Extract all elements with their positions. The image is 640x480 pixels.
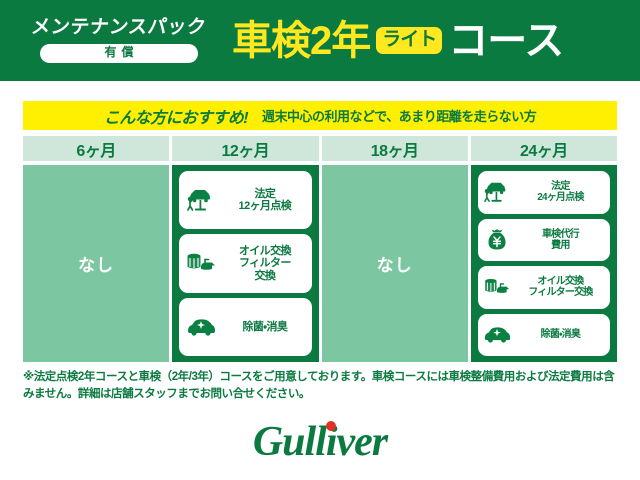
- footnote-text: ※法定点検2年コースと車検（2年/3年）コースをご用意しております。車検コースに…: [23, 369, 621, 402]
- sanitize-car-icon: [482, 325, 512, 344]
- table-column-18months: 18ヶ月 なし: [322, 136, 468, 362]
- light-plan-badge: ライト: [376, 27, 442, 54]
- header-left-group: メンテナンスパック 有償: [0, 18, 232, 62]
- sanitize-car-icon: [183, 317, 219, 337]
- car-on-lift-icon: [183, 187, 219, 213]
- table-column-6months: 6ヶ月 なし: [23, 136, 169, 362]
- service-label: 法定 12ヶ月点検: [222, 188, 307, 213]
- money-bag-icon: [482, 228, 512, 252]
- no-service-label: なし: [377, 251, 413, 276]
- column-body-18months: なし: [322, 165, 468, 362]
- column-body-6months: なし: [23, 165, 169, 362]
- column-header-12months: 12ヶ月: [172, 136, 318, 161]
- column-header-18months: 18ヶ月: [322, 136, 468, 161]
- service-label: 除菌・消臭: [222, 321, 307, 333]
- oil-filter-icon: [482, 275, 512, 299]
- maintenance-pack-title: メンテナンスパック: [30, 18, 208, 39]
- column-body-24months: 法定 24ヶ月点検 車検代行 費用: [471, 165, 617, 362]
- brand-logo: Gulliver: [0, 418, 640, 466]
- column-header-24months: 24ヶ月: [471, 136, 617, 161]
- recommendation-lead: こんな方におすすめ!: [104, 104, 248, 128]
- column-header-6months: 6ヶ月: [23, 136, 169, 161]
- service-card: 除菌・消臭: [478, 314, 610, 357]
- recommendation-description: 週末中心の利用などで、あまり距離を走らない方: [262, 106, 536, 125]
- header-right-group: 車検2年 ライト コース: [232, 21, 640, 61]
- service-card: 車検代行 費用: [478, 219, 610, 262]
- maintenance-schedule-table: 6ヶ月 なし 12ヶ月: [23, 136, 617, 362]
- course-title-suffix: コース: [448, 21, 563, 61]
- table-column-12months: 12ヶ月 法定 12ヶ月点検: [172, 136, 318, 362]
- course-title-highlight: 車検2年: [232, 21, 370, 61]
- header-banner: メンテナンスパック 有償 車検2年 ライト コース: [0, 0, 640, 81]
- service-card: 法定 12ヶ月点検: [179, 171, 311, 229]
- brand-logo-text: Gulliver: [253, 418, 387, 466]
- service-card: 法定 24ヶ月点検: [478, 171, 610, 214]
- service-label: 除菌・消臭: [515, 329, 606, 340]
- service-label: オイル交換 フィルター 交換: [222, 245, 307, 282]
- logo-dot-icon: [326, 421, 336, 431]
- service-label: オイル交換 フィルター交換: [515, 276, 606, 298]
- service-card: 除菌・消臭: [179, 298, 311, 356]
- service-card: オイル交換 フィルター 交換: [179, 234, 311, 292]
- column-body-12months: 法定 12ヶ月点検 オイル交換 フィルター 交換: [172, 165, 318, 362]
- car-on-lift-icon: [482, 180, 512, 204]
- service-label: 車検代行 費用: [515, 229, 606, 251]
- oil-filter-icon: [183, 250, 219, 276]
- paid-badge: 有償: [40, 44, 198, 62]
- no-service-label: なし: [78, 251, 114, 276]
- service-card: オイル交換 フィルター交換: [478, 266, 610, 309]
- service-label: 法定 24ヶ月点検: [515, 181, 606, 203]
- recommendation-banner: こんな方におすすめ! 週末中心の利用などで、あまり距離を走らない方: [23, 101, 617, 130]
- table-column-24months: 24ヶ月 法定 24ヶ月点検: [471, 136, 617, 362]
